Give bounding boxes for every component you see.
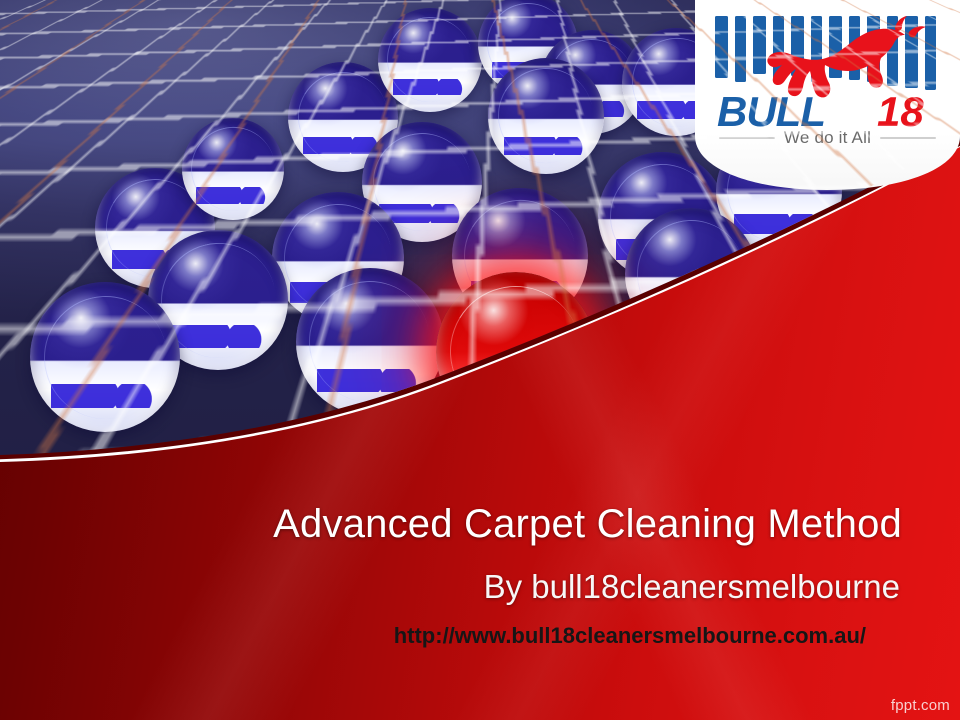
slide-url[interactable]: http://www.bull18cleanersmelbourne.com.a…	[0, 624, 866, 648]
sphere-blue-8	[488, 58, 604, 174]
sphere-accent-dots	[51, 384, 159, 408]
logo-wordmark-number: 18	[877, 88, 924, 132]
sphere-blue-4	[378, 8, 482, 112]
slide-author: By bull18cleanersmelbourne	[0, 570, 900, 605]
sphere-accent-dots	[168, 325, 269, 347]
tagline-rule-left	[719, 137, 775, 139]
tagline-rule-right	[880, 137, 936, 139]
sphere-blue-12	[30, 282, 180, 432]
logo-tagline-row: We do it All	[695, 128, 960, 148]
logo-tagline-text: We do it All	[784, 128, 871, 148]
slide-title: Advanced Carpet Cleaning Method	[0, 503, 902, 545]
sphere-blue-2	[182, 118, 284, 220]
sphere-accent-dots	[393, 79, 468, 96]
bull18-logo-mark: BULL 18	[709, 12, 947, 132]
bull18-logo-badge[interactable]: BULL 18 We do it All	[695, 0, 960, 190]
sphere-accent-dots	[196, 187, 269, 203]
sphere-accent-dots	[504, 137, 588, 156]
sphere-accent-dots	[317, 369, 424, 393]
presentation-slide: BULL 18 We do it All Advanced Carpet Cle…	[0, 0, 960, 720]
logo-wordmark-bull: BULL	[717, 88, 825, 132]
fppt-watermark: fppt.com	[891, 697, 950, 714]
